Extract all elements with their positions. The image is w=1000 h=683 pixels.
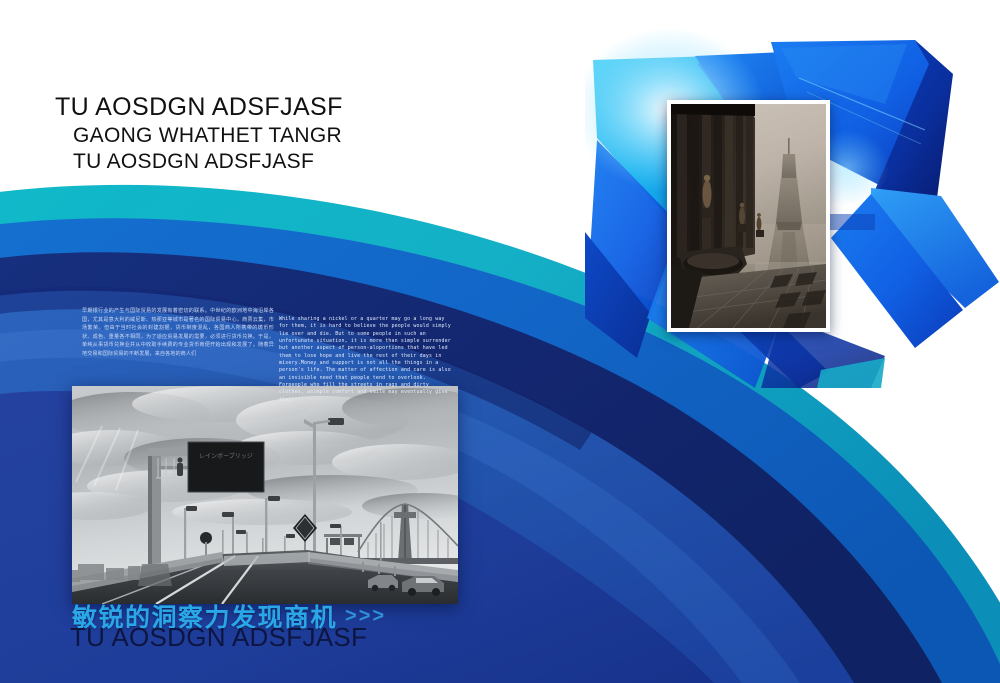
headline-primary: TU AOSDGN ADSFJASF: [55, 92, 343, 123]
eiffel-tower-photo: [667, 100, 830, 332]
chinese-body-text: 早期银行业的产生与国际贸易的发展有着密切的联系。中世纪的欧洲地中海沿岸各国，尤其…: [82, 307, 274, 359]
headline-group: TU AOSDGN ADSFJASF GAONG WHATHET TANGR T…: [55, 92, 343, 175]
poster-canvas: TU AOSDGN ADSFJASF GAONG WHATHET TANGR T…: [0, 0, 1000, 683]
sign-board: [188, 442, 264, 492]
worker-figure: [177, 457, 183, 476]
headline-secondary: GAONG WHATHET TANGR: [73, 123, 343, 149]
highway-bridge-photo: レインボーブリッジ: [72, 386, 458, 604]
sign-board-text: レインボーブリッジ: [199, 452, 253, 460]
english-body-text: While sharing a nickel or a quarter may …: [279, 316, 457, 404]
caption-subtitle: TU AOSDGN ADSFJASF: [70, 622, 367, 653]
headline-tertiary: TU AOSDGN ADSFJASF: [73, 149, 343, 175]
